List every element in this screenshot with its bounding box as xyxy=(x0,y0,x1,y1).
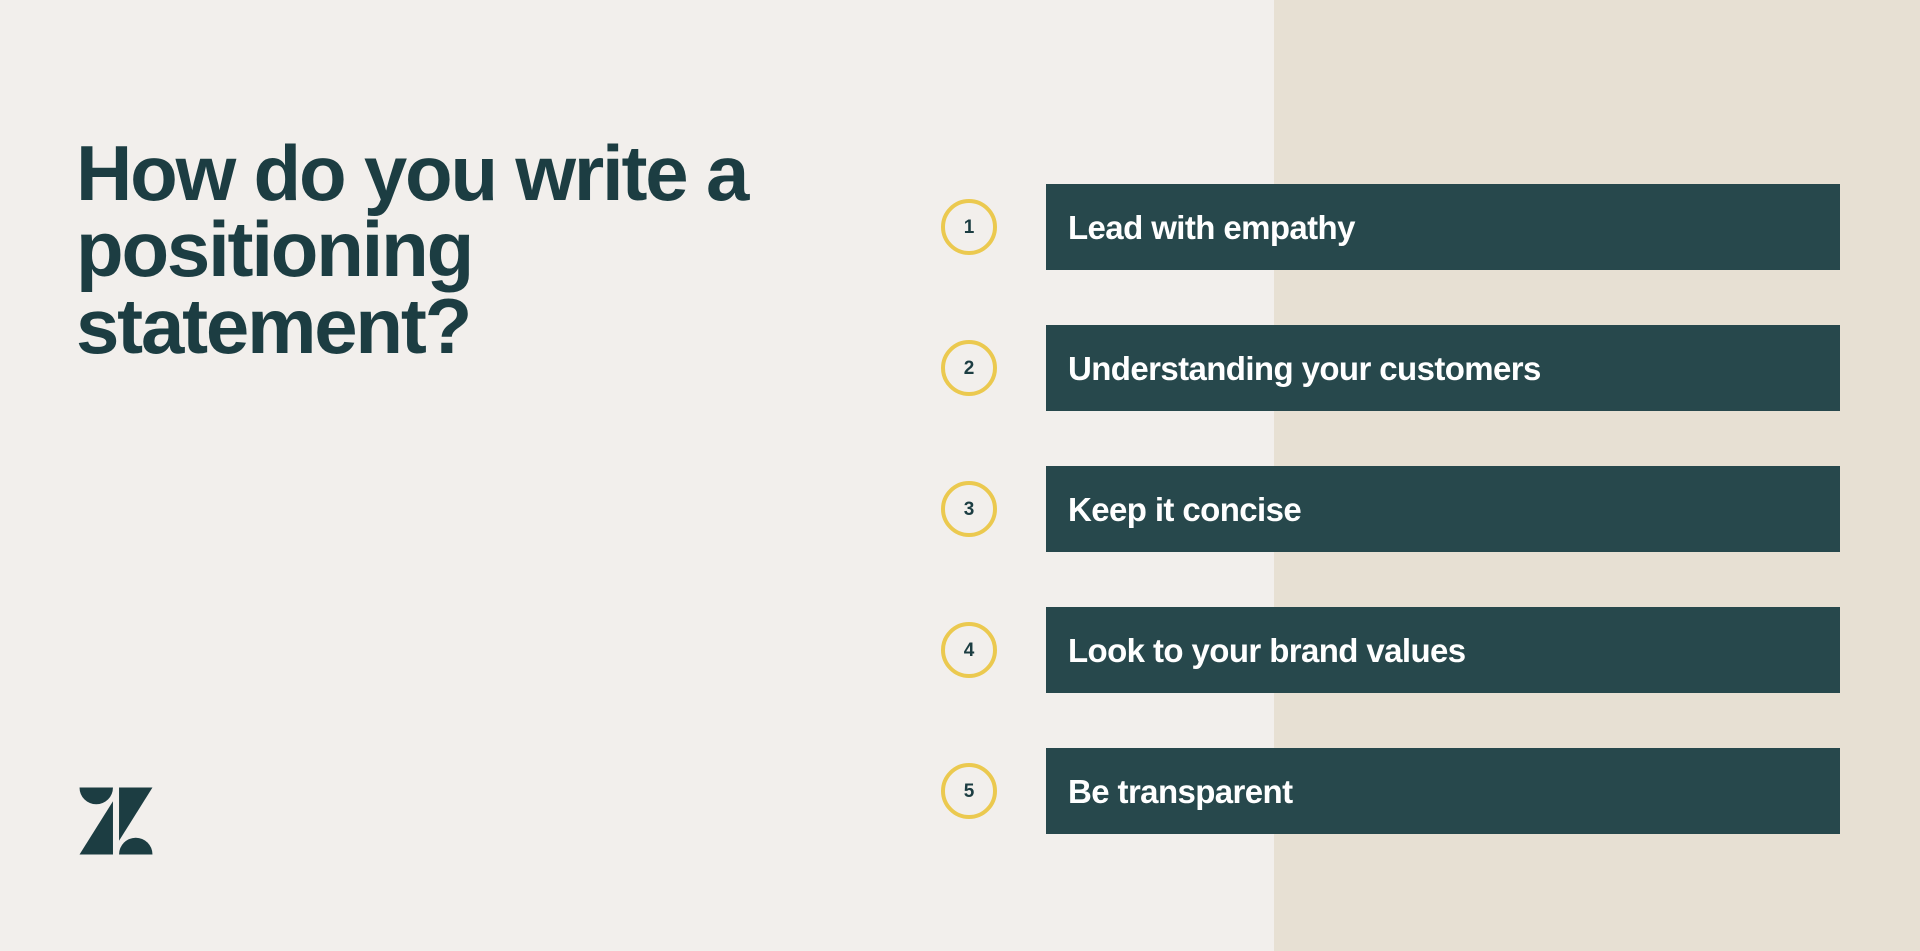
list-item[interactable]: 2 Understanding your customers xyxy=(0,325,1920,411)
steps-list: 1 Lead with empathy 2 Understanding your… xyxy=(0,0,1920,951)
list-item[interactable]: 4 Look to your brand values xyxy=(0,607,1920,693)
step-number-badge: 5 xyxy=(941,763,997,819)
list-item[interactable]: 1 Lead with empathy xyxy=(0,184,1920,270)
step-bar[interactable]: Lead with empathy xyxy=(1046,184,1840,270)
step-bar[interactable]: Be transparent xyxy=(1046,748,1840,834)
list-item[interactable]: 5 Be transparent xyxy=(0,748,1920,834)
step-bar[interactable]: Understanding your customers xyxy=(1046,325,1840,411)
step-label: Be transparent xyxy=(1046,775,1293,808)
list-item[interactable]: 3 Keep it concise xyxy=(0,466,1920,552)
step-bar[interactable]: Look to your brand values xyxy=(1046,607,1840,693)
slide-canvas: How do you write a positioning statement… xyxy=(0,0,1920,951)
step-number-badge: 1 xyxy=(941,199,997,255)
step-number-badge: 3 xyxy=(941,481,997,537)
step-label: Look to your brand values xyxy=(1046,634,1466,667)
step-label: Understanding your customers xyxy=(1046,352,1541,385)
step-label: Keep it concise xyxy=(1046,493,1301,526)
step-label: Lead with empathy xyxy=(1046,211,1355,244)
step-bar[interactable]: Keep it concise xyxy=(1046,466,1840,552)
step-number-badge: 2 xyxy=(941,340,997,396)
step-number-badge: 4 xyxy=(941,622,997,678)
